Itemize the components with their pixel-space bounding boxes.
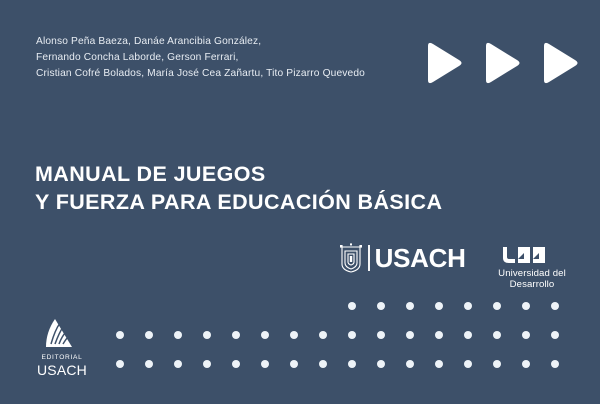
grid-dot [232,331,240,339]
play-marks-group [420,40,580,86]
usach-logo: USACH [338,243,466,273]
grid-dot [522,302,530,310]
grid-dot [406,331,414,339]
grid-dot [261,331,269,339]
authors-list: Alonso Peña Baeza, Danáe Arancibia Gonzá… [36,34,376,83]
grid-dot [464,360,472,368]
grid-dot [116,331,124,339]
grid-dot [464,331,472,339]
usach-wordmark: USACH [375,245,466,271]
grid-dot [290,360,298,368]
grid-dot [348,302,356,310]
grid-dot [435,360,443,368]
grid-dot [174,331,182,339]
grid-dot [203,360,211,368]
grid-dot [319,360,327,368]
grid-dot [551,302,559,310]
grid-dot [493,302,501,310]
book-title: MANUAL DE JUEGOS Y FUERZA PARA EDUCACIÓN… [35,160,535,216]
udd-university-name: Universidad del Desarrollo [478,268,586,290]
grid-dot [406,302,414,310]
grid-dot [493,360,501,368]
grid-dot [348,331,356,339]
grid-dot [551,360,559,368]
grid-dot [174,360,182,368]
grid-dot [319,331,327,339]
usach-crest-icon [338,243,364,273]
editorial-label: EDITORIAL [24,353,100,362]
grid-dot [348,360,356,368]
play-triangle-icon [420,40,464,86]
grid-dot [261,360,269,368]
grid-dot [145,360,153,368]
grid-dot [145,331,153,339]
grid-dot [464,302,472,310]
play-triangle-icon [478,40,522,86]
play-triangle-icon [536,40,580,86]
grid-dot [203,331,211,339]
editorial-usach-logo: EDITORIAL USACH [24,318,100,378]
grid-dot [406,360,414,368]
book-cover: Alonso Peña Baeza, Danáe Arancibia Gonzá… [0,0,600,404]
grid-dot [290,331,298,339]
grid-dot [377,360,385,368]
grid-dot [232,360,240,368]
udd-mark-icon [478,244,586,265]
grid-dot [377,302,385,310]
grid-dot [522,331,530,339]
usach-logo-divider [368,245,370,271]
editorial-usach-label: USACH [24,362,100,378]
grid-dot [116,360,124,368]
grid-dot [522,360,530,368]
grid-dot [435,331,443,339]
editorial-pages-icon [24,318,100,350]
grid-dot [551,331,559,339]
grid-dot [435,302,443,310]
grid-dot [377,331,385,339]
grid-dot [493,331,501,339]
udd-logo: Universidad del Desarrollo [478,244,586,290]
